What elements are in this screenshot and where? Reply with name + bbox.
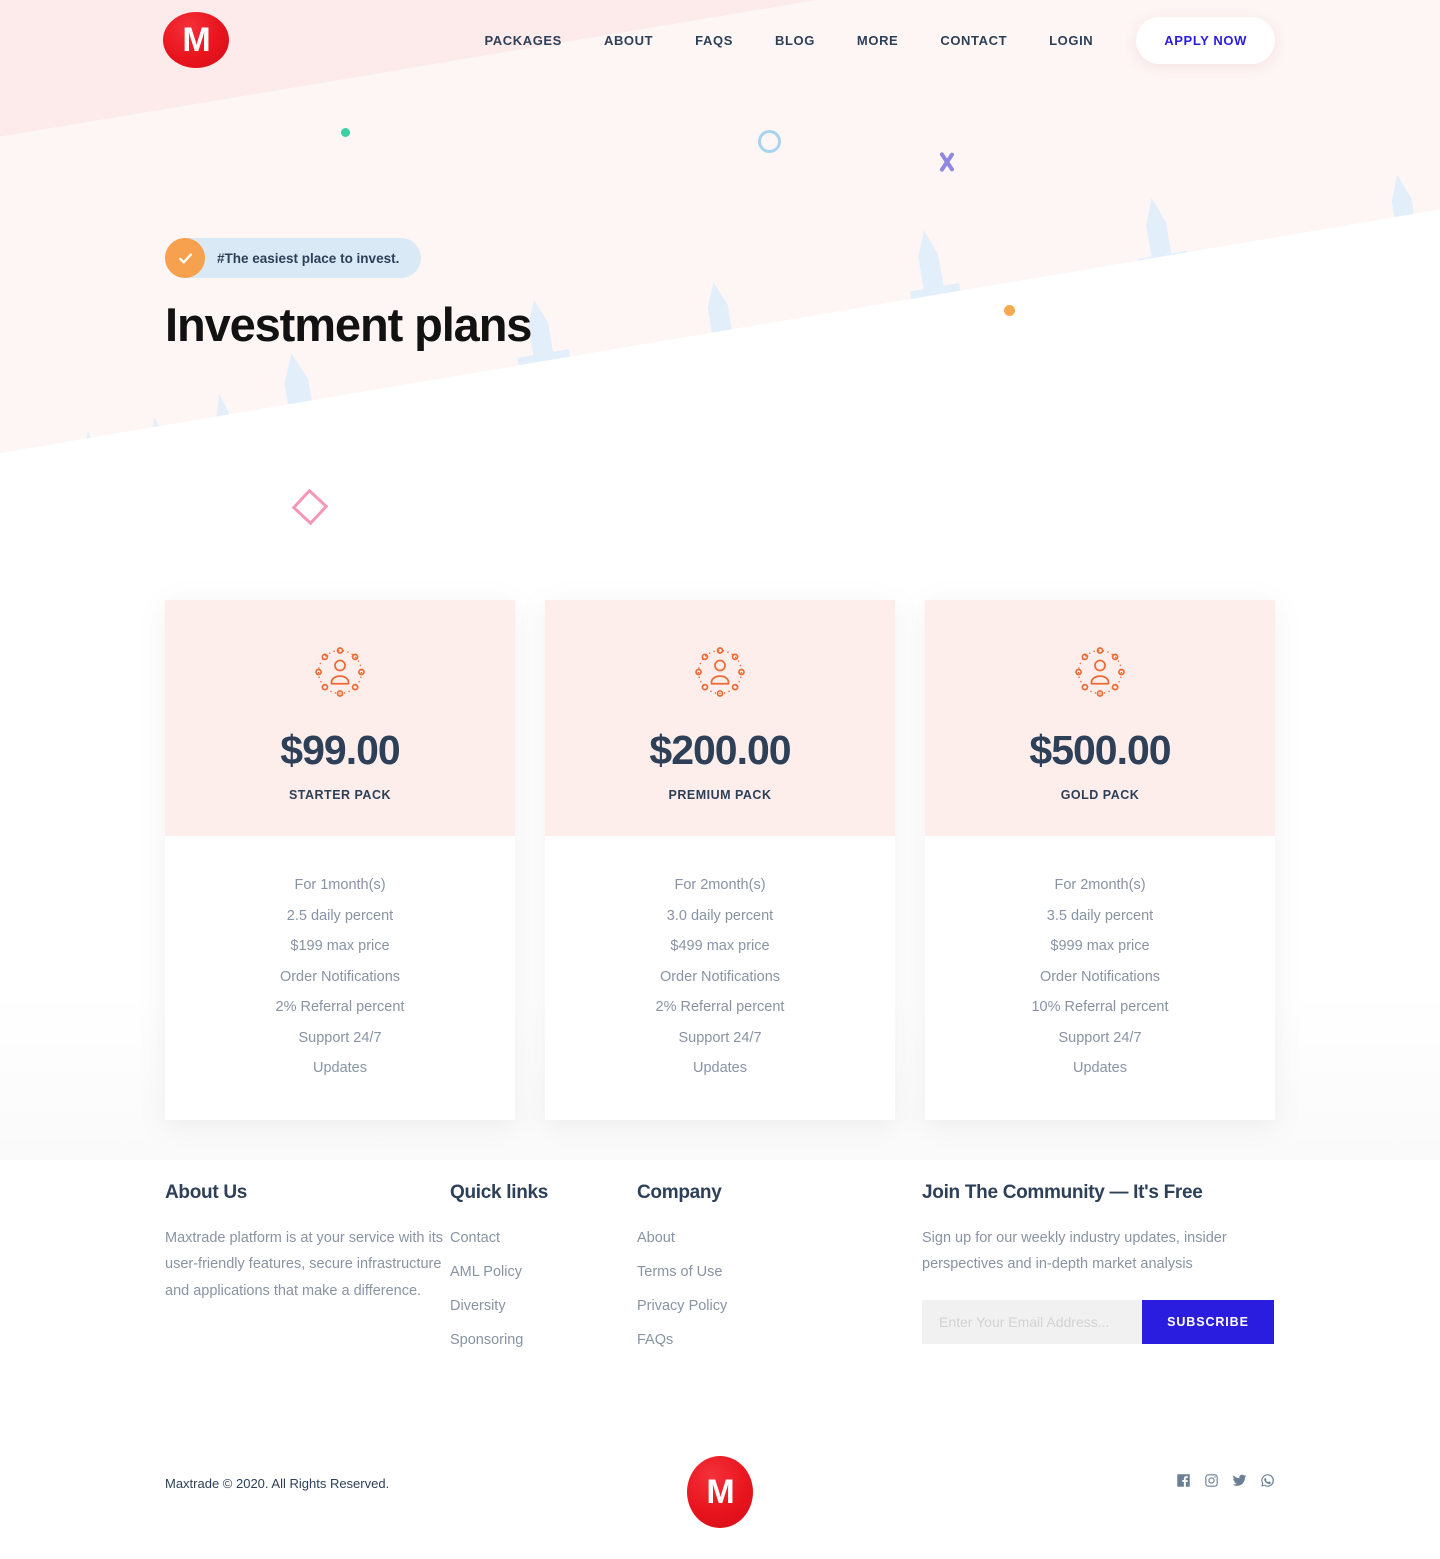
company-link-faqs[interactable]: FAQs — [637, 1332, 673, 1348]
pricing-card-features: For 1month(s) 2.5 daily percent $199 max… — [165, 836, 515, 1120]
plan-feature: 3.5 daily percent — [945, 901, 1255, 932]
plan-feature: Support 24/7 — [565, 1023, 875, 1054]
plan-feature: Updates — [565, 1053, 875, 1084]
quick-links-list: Contact AML Policy Diversity Sponsoring — [450, 1225, 637, 1353]
brand-logo-letter: M — [182, 23, 209, 57]
brand-logo[interactable]: M — [163, 12, 229, 68]
quick-link-contact[interactable]: Contact — [450, 1230, 500, 1246]
plan-feature: Updates — [945, 1053, 1255, 1084]
plan-feature: For 1month(s) — [185, 870, 495, 901]
footer-bottom-bar: Maxtrade © 2020. All Rights Reserved. M — [0, 1460, 1440, 1559]
footer-heading-company: Company — [637, 1182, 922, 1204]
footer-brand-logo[interactable]: M — [687, 1456, 753, 1528]
plan-feature: 2.5 daily percent — [185, 901, 495, 932]
pricing-card-list: $99.00 STARTER PACK For 1month(s) 2.5 da… — [165, 600, 1275, 1120]
plan-price: $200.00 — [565, 730, 875, 771]
plan-name: GOLD PACK — [945, 788, 1255, 802]
plan-feature: 10% Referral percent — [945, 992, 1255, 1023]
plan-feature: $999 max price — [945, 931, 1255, 962]
pricing-section: $99.00 STARTER PACK For 1month(s) 2.5 da… — [0, 600, 1440, 1160]
page-title: Investment plans — [165, 300, 531, 349]
list-item: About — [637, 1225, 922, 1251]
nav-item-faqs[interactable]: FAQS — [674, 33, 754, 48]
plan-feature: $499 max price — [565, 931, 875, 962]
hero-content: #The easiest place to invest. Investment… — [165, 238, 531, 349]
nav-item-about[interactable]: ABOUT — [583, 33, 674, 48]
pricing-card-features: For 2month(s) 3.0 daily percent $499 max… — [545, 836, 895, 1120]
plan-feature: 2% Referral percent — [185, 992, 495, 1023]
newsletter-heading: Join The Community — It's Free — [922, 1182, 1275, 1204]
plan-feature: Order Notifications — [945, 962, 1255, 993]
social-links — [1175, 1472, 1275, 1488]
blue-ring-decor-icon — [758, 130, 781, 153]
pricing-card-features: For 2month(s) 3.5 daily percent $999 max… — [925, 836, 1275, 1120]
footer-column-quick-links: Quick links Contact AML Policy Diversity… — [450, 1182, 637, 1361]
list-item: FAQs — [637, 1327, 922, 1353]
apply-now-button[interactable]: APPLY NOW — [1136, 17, 1275, 64]
footer-column-about: About Us Maxtrade platform is at your se… — [165, 1182, 450, 1361]
pricing-card-header: $200.00 PREMIUM PACK — [545, 600, 895, 836]
plan-name: STARTER PACK — [185, 788, 495, 802]
company-link-privacy-policy[interactable]: Privacy Policy — [637, 1298, 727, 1314]
list-item: Privacy Policy — [637, 1293, 922, 1319]
footer-columns: About Us Maxtrade platform is at your se… — [165, 1182, 1275, 1361]
twitter-icon[interactable] — [1231, 1472, 1247, 1488]
subscribe-button[interactable]: SUBSCRIBE — [1142, 1300, 1274, 1344]
quick-link-aml-policy[interactable]: AML Policy — [450, 1264, 522, 1280]
email-input[interactable] — [922, 1300, 1142, 1344]
pricing-card[interactable]: $200.00 PREMIUM PACK For 2month(s) 3.0 d… — [545, 600, 895, 1120]
list-item: Contact — [450, 1225, 637, 1251]
check-icon — [165, 238, 205, 278]
page-root: M PACKAGES ABOUT FAQS BLOG MORE CONTACT … — [0, 0, 1440, 1559]
list-item: Sponsoring — [450, 1327, 637, 1353]
footer-column-company: Company About Terms of Use Privacy Polic… — [637, 1182, 922, 1361]
nav-item-more[interactable]: MORE — [836, 33, 919, 48]
quick-link-sponsoring[interactable]: Sponsoring — [450, 1332, 523, 1348]
teal-dot-decor-icon — [341, 128, 350, 137]
network-person-icon — [1074, 646, 1126, 698]
nav-item-packages[interactable]: PACKAGES — [463, 33, 583, 48]
list-item: AML Policy — [450, 1259, 637, 1285]
plan-feature: $199 max price — [185, 931, 495, 962]
plan-feature: Updates — [185, 1053, 495, 1084]
site-footer: About Us Maxtrade platform is at your se… — [0, 1160, 1440, 1559]
newsletter-form: SUBSCRIBE — [922, 1300, 1274, 1344]
pricing-card-header: $500.00 GOLD PACK — [925, 600, 1275, 836]
hero-tagline-badge: #The easiest place to invest. — [165, 238, 421, 278]
plan-feature: Order Notifications — [565, 962, 875, 993]
nav-item-login[interactable]: LOGIN — [1028, 33, 1114, 48]
plan-feature: Support 24/7 — [945, 1023, 1255, 1054]
plan-feature: For 2month(s) — [945, 870, 1255, 901]
pricing-card[interactable]: $500.00 GOLD PACK For 2month(s) 3.5 dail… — [925, 600, 1275, 1120]
plan-feature: Support 24/7 — [185, 1023, 495, 1054]
company-links-list: About Terms of Use Privacy Policy FAQs — [637, 1225, 922, 1353]
plan-feature: For 2month(s) — [565, 870, 875, 901]
network-person-icon — [694, 646, 746, 698]
footer-heading-quick-links: Quick links — [450, 1182, 637, 1204]
whatsapp-icon[interactable] — [1259, 1472, 1275, 1488]
plan-feature: 3.0 daily percent — [565, 901, 875, 932]
nav-item-blog[interactable]: BLOG — [754, 33, 836, 48]
footer-about-text: Maxtrade platform is at your service wit… — [165, 1225, 450, 1304]
main-navigation: PACKAGES ABOUT FAQS BLOG MORE CONTACT LO… — [463, 0, 1275, 80]
company-link-about[interactable]: About — [637, 1230, 675, 1246]
newsletter-description: Sign up for our weekly industry updates,… — [922, 1225, 1275, 1277]
nav-item-contact[interactable]: CONTACT — [919, 33, 1028, 48]
purple-x-decor-icon — [936, 151, 958, 173]
facebook-icon[interactable] — [1175, 1472, 1191, 1488]
quick-link-diversity[interactable]: Diversity — [450, 1298, 506, 1314]
plan-price: $99.00 — [185, 730, 495, 771]
footer-column-newsletter: Join The Community — It's Free Sign up f… — [922, 1182, 1275, 1361]
pricing-card-header: $99.00 STARTER PACK — [165, 600, 515, 836]
pricing-card[interactable]: $99.00 STARTER PACK For 1month(s) 2.5 da… — [165, 600, 515, 1120]
hero-tagline-text: #The easiest place to invest. — [217, 251, 399, 266]
list-item: Diversity — [450, 1293, 637, 1319]
footer-brand-logo-letter: M — [706, 1475, 733, 1509]
copyright-text: Maxtrade © 2020. All Rights Reserved. — [165, 1476, 389, 1491]
footer-heading-about: About Us — [165, 1182, 450, 1204]
plan-feature: Order Notifications — [185, 962, 495, 993]
orange-dot-decor-icon — [1004, 305, 1015, 316]
plan-name: PREMIUM PACK — [565, 788, 875, 802]
plan-feature: 2% Referral percent — [565, 992, 875, 1023]
plan-price: $500.00 — [945, 730, 1255, 771]
company-link-terms-of-use[interactable]: Terms of Use — [637, 1264, 722, 1280]
instagram-icon[interactable] — [1203, 1472, 1219, 1488]
network-person-icon — [314, 646, 366, 698]
site-header: M PACKAGES ABOUT FAQS BLOG MORE CONTACT … — [0, 0, 1440, 80]
list-item: Terms of Use — [637, 1259, 922, 1285]
